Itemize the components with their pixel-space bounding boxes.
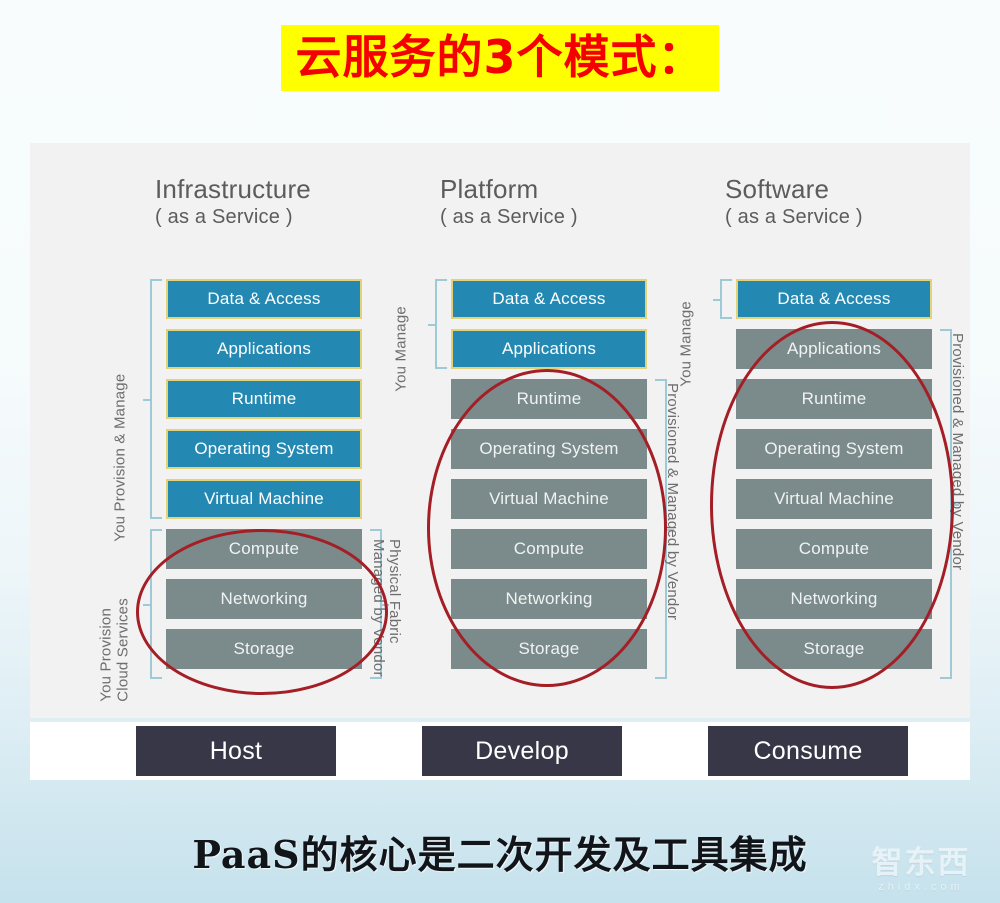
column-title: Software [725, 175, 975, 204]
annotation-ellipse-software [710, 321, 954, 689]
slide-caption: PaaS的核心是二次开发及工具集成 [0, 824, 1000, 879]
layer-applications: Applications [166, 329, 362, 369]
column-heading-platform: Platform ( as a Service ) [440, 175, 690, 230]
label-cloud-services-line2: Cloud Services [114, 598, 133, 702]
layer-operating-system: Operating System [166, 429, 362, 469]
annotation-ellipse-platform [427, 369, 667, 687]
bracket-you-manage [435, 279, 447, 369]
column-software: Software ( as a Service ) Data & Access … [700, 143, 980, 718]
action-host[interactable]: Host [136, 726, 336, 776]
label-you-provision-line1: You Provision [97, 608, 116, 702]
label-you-provision-and-manage: You Provision & Manage [111, 374, 130, 542]
layer-data-access: Data & Access [736, 279, 932, 319]
bracket-tick [713, 299, 722, 301]
label-physical-fabric-line1: Physical Fabric [384, 539, 403, 644]
column-heading-software: Software ( as a Service ) [725, 175, 975, 230]
layer-virtual-machine: Virtual Machine [166, 479, 362, 519]
bracket-tick [143, 399, 152, 401]
bracket-tick [428, 324, 437, 326]
layer-data-access: Data & Access [166, 279, 362, 319]
column-heading-infrastructure: Infrastructure ( as a Service ) [155, 175, 405, 230]
column-title: Infrastructure [155, 175, 405, 204]
column-title: Platform [440, 175, 690, 204]
cloud-service-models-diagram: Infrastructure ( as a Service ) Data & A… [30, 143, 970, 718]
column-subtitle: ( as a Service ) [155, 204, 405, 230]
label-you-manage: You Manage [677, 301, 696, 387]
column-subtitle: ( as a Service ) [440, 204, 690, 230]
bracket-you-manage [720, 279, 732, 319]
watermark-site: zhidx.com [856, 881, 986, 893]
column-platform: Platform ( as a Service ) Data & Access … [415, 143, 695, 718]
column-subtitle: ( as a Service ) [725, 204, 975, 230]
layer-data-access: Data & Access [451, 279, 647, 319]
label-you-manage: You Manage [392, 306, 411, 392]
action-bar: Host Develop Consume [30, 722, 970, 780]
bracket-provision-manage [150, 279, 162, 519]
action-develop[interactable]: Develop [422, 726, 622, 776]
page-title: 云服务的3个模式： [281, 25, 718, 91]
action-consume[interactable]: Consume [708, 726, 908, 776]
layer-applications: Applications [451, 329, 647, 369]
annotation-ellipse-infrastructure [136, 529, 388, 695]
column-infrastructure: Infrastructure ( as a Service ) Data & A… [130, 143, 410, 718]
slide-title-wrapper: 云服务的3个模式： [0, 25, 1000, 91]
layer-runtime: Runtime [166, 379, 362, 419]
